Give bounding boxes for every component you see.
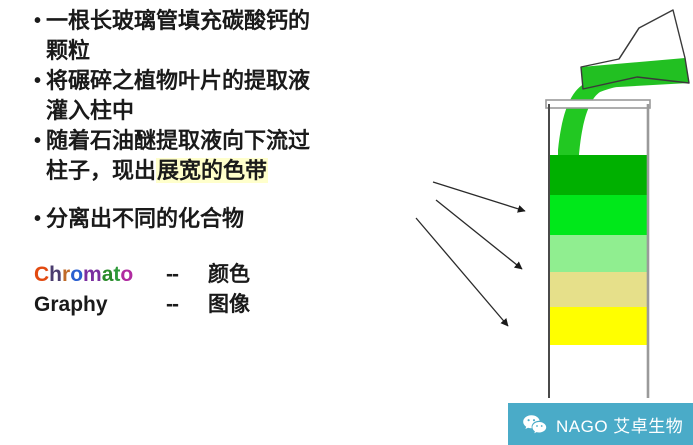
bullet-line: 灌入柱中 xyxy=(34,96,404,126)
bullet-text: 随着石油醚提取液向下流过 xyxy=(46,128,310,153)
band-yellow xyxy=(549,307,647,345)
term-row-chromato: Chromato--颜色 xyxy=(34,260,404,290)
bullet-line: •随着石油醚提取液向下流过 xyxy=(34,126,404,156)
bullet-text: 颗粒 xyxy=(46,38,90,63)
column-chromatography-diagram xyxy=(500,0,693,400)
term-letter: y xyxy=(96,293,108,316)
term-translation: 图像 xyxy=(208,290,250,320)
term-letter: p xyxy=(70,293,83,316)
flask-liquid xyxy=(581,58,689,89)
bullet-text: 分离出不同的化合物 xyxy=(46,206,244,231)
term-word-chromato: Chromato xyxy=(34,260,166,290)
bullet-marker-icon: • xyxy=(34,126,46,156)
bullet-text: 灌入柱中 xyxy=(46,98,134,123)
term-letter: h xyxy=(49,263,62,286)
bullet-text-prefix: 柱子，现出 xyxy=(46,158,156,183)
term-row-graphy: Graphy--图像 xyxy=(34,290,404,320)
arrow-3 xyxy=(416,218,508,326)
bullet-text: 将碾碎之植物叶片的提取液 xyxy=(46,68,310,93)
term-translation: 颜色 xyxy=(208,260,250,290)
band-bright-green xyxy=(549,195,647,235)
highlighted-text: 展宽的色带 xyxy=(156,158,268,183)
term-word-graphy: Graphy xyxy=(34,290,166,320)
bullet-item-4: •分离出不同的化合物 xyxy=(34,204,404,234)
term-letter: a xyxy=(102,263,114,286)
wechat-watermark-banner: NAGO 艾卓生物 xyxy=(508,403,693,445)
term-letter: o xyxy=(120,263,133,286)
wechat-banner-label: NAGO 艾卓生物 xyxy=(556,412,683,437)
slide-canvas: •一根长玻璃管填充碳酸钙的 颗粒 •将碾碎之植物叶片的提取液 灌入柱中 •随着石… xyxy=(0,0,693,445)
band-khaki xyxy=(549,272,647,307)
term-dash: -- xyxy=(166,260,208,290)
bullet-line: •将碾碎之植物叶片的提取液 xyxy=(34,66,404,96)
band-dark-green xyxy=(549,155,647,195)
bullet-line: 颗粒 xyxy=(34,36,404,66)
term-dash: -- xyxy=(166,290,208,320)
term-letter: m xyxy=(83,263,102,286)
bullet-marker-icon: • xyxy=(34,66,46,96)
text-content-column: •一根长玻璃管填充碳酸钙的 颗粒 •将碾碎之植物叶片的提取液 灌入柱中 •随着石… xyxy=(34,6,404,320)
bullet-item-3: •随着石油醚提取液向下流过 柱子，现出展宽的色带 xyxy=(34,126,404,186)
wechat-icon xyxy=(522,414,548,434)
vertical-spacer xyxy=(34,234,404,260)
bullet-item-2: •将碾碎之植物叶片的提取液 灌入柱中 xyxy=(34,66,404,126)
band-light-green xyxy=(549,235,647,272)
bullet-text: 一根长玻璃管填充碳酸钙的 xyxy=(46,8,310,33)
vertical-spacer xyxy=(34,186,404,204)
column-rim xyxy=(546,100,650,108)
bullet-marker-icon: • xyxy=(34,6,46,36)
term-letter: C xyxy=(34,263,49,286)
term-letter: r xyxy=(50,293,58,316)
bullet-line: •一根长玻璃管填充碳酸钙的 xyxy=(34,6,404,36)
term-letter: a xyxy=(59,293,71,316)
terminology-block: Chromato--颜色 Graphy--图像 xyxy=(34,260,404,320)
bullet-item-1: •一根长玻璃管填充碳酸钙的 颗粒 xyxy=(34,6,404,66)
bullet-line: •分离出不同的化合物 xyxy=(34,204,404,234)
term-letter: h xyxy=(83,293,96,316)
pouring-flask xyxy=(581,10,689,89)
bullet-line-highlighted: 柱子，现出展宽的色带 xyxy=(34,156,404,186)
term-letter: r xyxy=(62,263,70,286)
bullet-marker-icon: • xyxy=(34,204,46,234)
term-letter: G xyxy=(34,293,50,316)
flask-neck-line xyxy=(619,28,639,59)
term-letter: o xyxy=(70,263,83,286)
